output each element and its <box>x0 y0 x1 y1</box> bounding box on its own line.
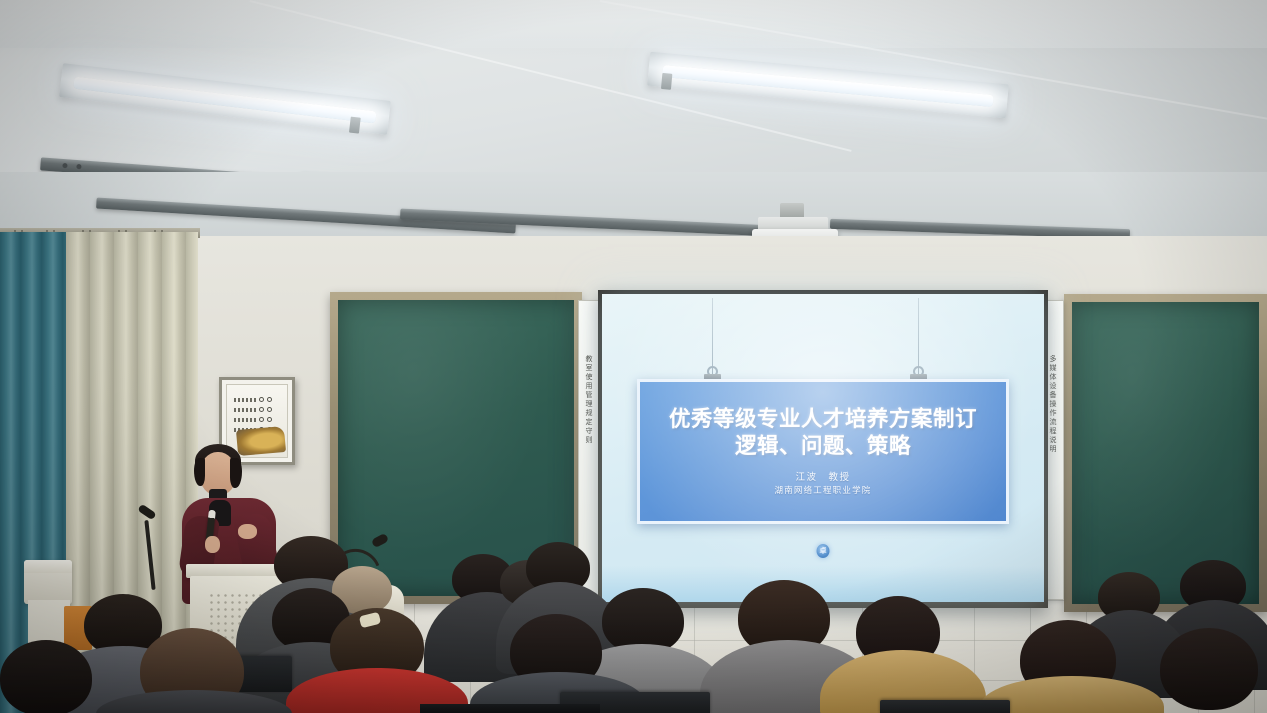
chalkboard-right-surface <box>1072 302 1259 604</box>
presenter-hand-left <box>205 536 220 553</box>
ceiling-shade <box>0 0 1267 60</box>
slide-presenter-name: 江波 教授 <box>795 471 850 484</box>
desk-edge <box>420 704 600 713</box>
poster-line <box>234 407 272 412</box>
poster-line <box>234 417 272 422</box>
tube-bracket-right <box>661 73 672 90</box>
amplifier-box <box>24 560 72 604</box>
projection-screen-housing: 优秀等级专业人才培养方案制订 逻辑、问题、策略 江波 教授 湖南网络工程职业学院… <box>598 290 1048 608</box>
audience-head <box>0 640 92 713</box>
poster-line <box>234 397 272 402</box>
tube-bracket-left <box>349 117 361 134</box>
slide-hanging-wire-right <box>918 298 919 374</box>
classroom-photo: 教室使用管理规定守则 多媒体设备操作流程说明 优秀等级专业人才培养方案制订 逻辑… <box>0 0 1267 713</box>
slide-title-line-2: 逻辑、问题、策略 <box>735 434 911 459</box>
wall-sign-right-text: 多媒体设备操作流程说明 <box>1048 355 1058 454</box>
laptop[interactable] <box>880 700 1010 713</box>
chalkboard-right <box>1064 294 1267 612</box>
presenter-hair-right <box>230 458 242 488</box>
wall-sign-left-text: 教室使用管理规定守则 <box>584 355 594 445</box>
projection-screen[interactable]: 优秀等级专业人才培养方案制订 逻辑、问题、策略 江波 教授 湖南网络工程职业学院… <box>602 294 1044 602</box>
rail-dot <box>76 164 81 169</box>
slide-hanging-wire-left <box>712 298 713 374</box>
slide-affiliation: 湖南网络工程职业学院 <box>774 484 871 496</box>
presenter-hair-left <box>194 458 205 486</box>
presenter-hand-right <box>238 524 257 539</box>
fluorescent-tube-left <box>59 63 391 135</box>
slide-title-card: 优秀等级专业人才培养方案制订 逻辑、问题、策略 江波 教授 湖南网络工程职业学院 <box>637 379 1009 524</box>
rail-dot <box>62 163 67 168</box>
slide-title-line-1: 优秀等级专业人才培养方案制订 <box>669 407 977 432</box>
amplifier-lid <box>24 560 72 573</box>
slide-logo-icon: 卓 <box>817 544 830 558</box>
audience-head <box>1160 628 1258 710</box>
